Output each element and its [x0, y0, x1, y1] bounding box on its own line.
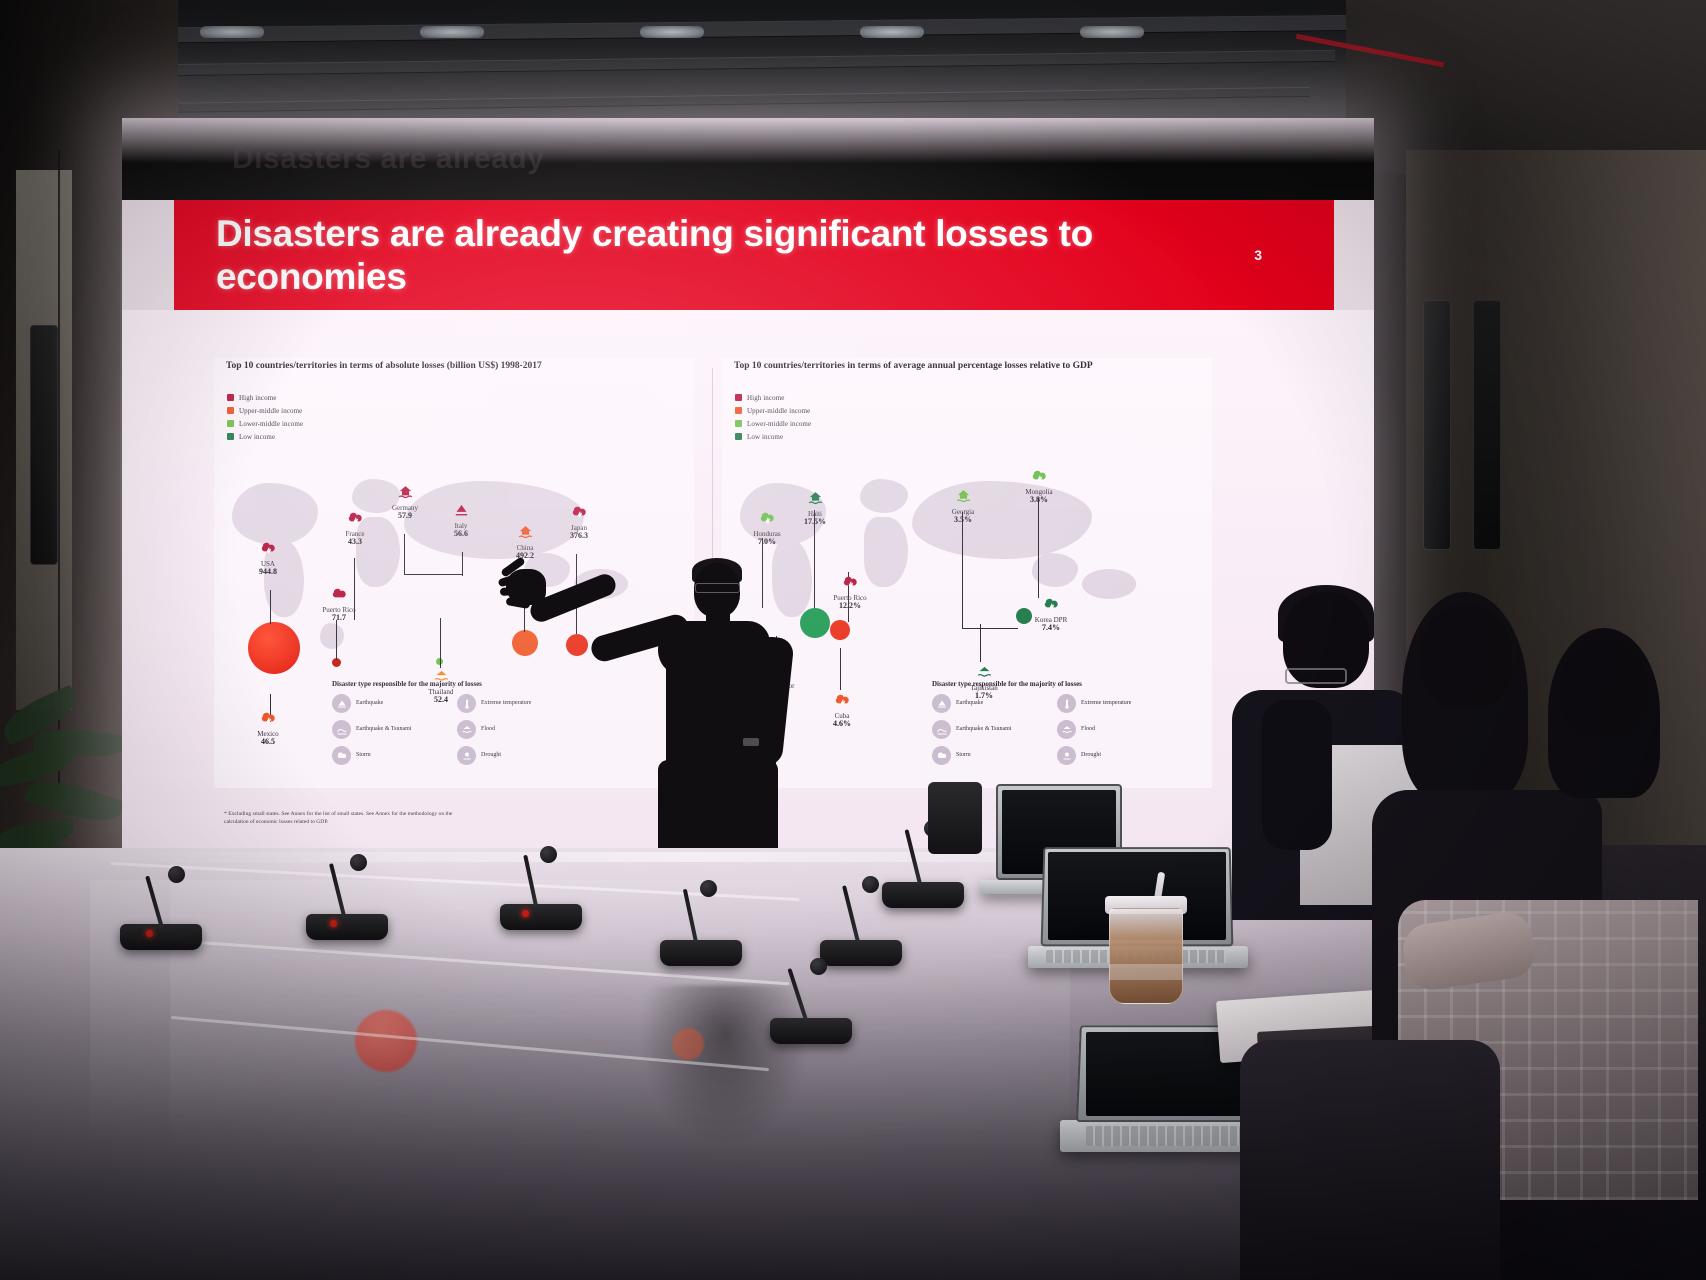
map-marker-germany[interactable]: Germany 57.9 — [376, 480, 434, 521]
legend-label: High income — [747, 394, 784, 402]
flood-icon — [513, 520, 537, 544]
thermometer-icon — [457, 694, 476, 713]
flood-icon — [393, 480, 417, 504]
disaster-type-label: Earthquake — [356, 700, 383, 707]
storm-icon — [343, 506, 367, 530]
country-value: 7.4% — [1022, 624, 1080, 633]
earthquake-icon — [332, 694, 351, 713]
country-value: 46.5 — [236, 738, 300, 747]
country-value: 3.8% — [1010, 496, 1068, 505]
storm-icon — [755, 506, 779, 530]
slide-number: 3 — [1254, 247, 1262, 263]
country-value: 71.7 — [310, 614, 368, 623]
ceiling-light — [200, 26, 264, 38]
left-panel-title: Top 10 countries/territories in terms of… — [226, 360, 646, 373]
legend-swatch — [227, 433, 234, 440]
country-value: 43.3 — [326, 538, 384, 547]
slide-footnote: * Excluding small states. See Annex for … — [224, 810, 454, 827]
drought-icon — [457, 746, 476, 765]
iced-coffee-cup[interactable] — [1105, 878, 1187, 1008]
legend-item: Upper-middle income — [735, 405, 811, 416]
legend-swatch — [735, 433, 742, 440]
tsunami-icon — [332, 720, 351, 739]
ceiling-panel — [0, 87, 1310, 115]
legend-label: Upper-middle income — [239, 407, 302, 415]
attendee-body — [1240, 1040, 1500, 1280]
slide-title-banner: Disasters are already creating significa… — [174, 200, 1334, 310]
loss-bubble-usa — [248, 622, 300, 674]
flood-icon — [457, 720, 476, 739]
legend-swatch — [227, 420, 234, 427]
storm-icon — [256, 706, 280, 730]
legend-swatch — [735, 420, 742, 427]
ceiling-light — [420, 26, 484, 38]
map-marker-japan[interactable]: Japan 376.3 — [550, 500, 608, 541]
glasses — [695, 583, 740, 593]
disaster-type-item: Earthquake — [932, 694, 1057, 713]
ceiling-light — [640, 26, 704, 38]
disaster-type-item: Storm — [932, 746, 1057, 765]
legend-label: Low income — [239, 433, 275, 441]
legend-swatch — [227, 394, 234, 401]
storm-icon — [1039, 592, 1063, 616]
legend-item: Lower-middle income — [227, 418, 303, 429]
country-value: 57.9 — [376, 512, 434, 521]
disaster-legend-title: Disaster type responsible for the majori… — [932, 680, 1182, 688]
disaster-type-item: Earthquake & Tsunami — [332, 720, 457, 739]
page-title: Disasters are already creating significa… — [216, 212, 1176, 299]
disaster-type-label: Drought — [1081, 752, 1101, 759]
right-income-legend: High income Upper-middle income Lower-mi… — [735, 392, 811, 444]
map-marker-mongolia[interactable]: Mongolia 3.8% — [1010, 464, 1068, 505]
attendee-glasses — [1285, 668, 1347, 684]
flood-icon — [803, 486, 827, 510]
map-marker-mexico[interactable]: Mexico 46.5 — [236, 706, 300, 747]
map-marker-georgia[interactable]: Georgia 3.5% — [934, 484, 992, 525]
storm-icon — [1027, 464, 1051, 488]
legend-label: Low income — [747, 433, 783, 441]
legend-swatch — [735, 407, 742, 414]
legend-swatch — [227, 407, 234, 414]
earthquake-icon — [932, 694, 951, 713]
disaster-type-label: Storm — [956, 752, 971, 759]
right-panel-title: Top 10 countries/territories in terms of… — [734, 360, 1154, 373]
disaster-type-label: Storm — [356, 752, 371, 759]
legend-item: Upper-middle income — [227, 405, 303, 416]
wall-speaker — [1473, 300, 1501, 550]
map-marker-haiti[interactable]: Haiti 17.5% — [786, 486, 844, 527]
country-value: 3.5% — [934, 516, 992, 525]
storm-icon — [332, 746, 351, 765]
disaster-type-item: Earthquake — [332, 694, 457, 713]
storm-icon — [932, 746, 951, 765]
disaster-type-label: Flood — [481, 726, 495, 733]
country-value: 56.6 — [432, 530, 490, 539]
country-value: 944.8 — [236, 568, 300, 577]
disaster-type-label: Earthquake — [956, 700, 983, 707]
attendee-head — [1560, 640, 1646, 738]
conference-room-photo: Disasters are already Disasters are alre… — [0, 0, 1706, 1280]
legend-item: Lower-middle income — [735, 418, 811, 429]
disaster-type-label: Extreme temperature — [1081, 700, 1131, 707]
wall-speaker — [30, 325, 58, 565]
map-marker-usa[interactable]: USA 944.8 — [236, 536, 300, 577]
map-marker-korea-dpr[interactable]: Korea DPR 7.4% — [1022, 592, 1080, 633]
storm-icon — [327, 582, 351, 606]
legend-item: Low income — [735, 431, 811, 442]
previous-slide-ghost-text: Disasters are already — [232, 142, 1212, 176]
ceiling-panel — [0, 50, 1335, 78]
screen-top-edge: Disasters are already — [122, 118, 1374, 200]
flood-icon — [951, 484, 975, 508]
legend-item: High income — [227, 392, 303, 403]
table-speaker — [928, 782, 982, 854]
wall-speaker — [1423, 300, 1451, 550]
cup-band — [1109, 964, 1183, 980]
disaster-type-item: Extreme temperature — [1057, 694, 1182, 713]
legend-label: High income — [239, 394, 276, 402]
thermometer-icon — [1057, 694, 1076, 713]
disaster-type-item: Earthquake & Tsunami — [932, 720, 1057, 739]
legend-item: Low income — [227, 431, 303, 442]
flood-icon — [1057, 720, 1076, 739]
earthquake-icon — [449, 498, 473, 522]
storm-icon — [567, 500, 591, 524]
country-value: 376.3 — [550, 532, 608, 541]
left-income-legend: High income Upper-middle income Lower-mi… — [227, 392, 303, 444]
storm-icon — [256, 536, 280, 560]
right-disaster-type-legend: Disaster type responsible for the majori… — [932, 680, 1182, 772]
legend-swatch — [735, 394, 742, 401]
disaster-type-item: Storm — [332, 746, 457, 765]
tsunami-icon — [932, 720, 951, 739]
cup-body — [1109, 908, 1183, 1004]
map-marker-puerto-rico[interactable]: Puerto Rico 71.7 — [310, 582, 368, 623]
wristwatch — [743, 738, 759, 746]
country-value: 17.5% — [786, 518, 844, 527]
legend-label: Lower-middle income — [239, 420, 303, 428]
drought-icon — [1057, 746, 1076, 765]
attendee-arm — [1262, 700, 1332, 850]
disaster-type-item: Drought — [1057, 746, 1182, 765]
map-marker-italy[interactable]: Italy 56.6 — [432, 498, 490, 539]
attendee-head — [1420, 605, 1512, 709]
ceiling-light — [1080, 26, 1144, 38]
presenter-silhouette — [498, 545, 848, 875]
ceiling-light — [860, 26, 924, 38]
disaster-type-item: Flood — [1057, 720, 1182, 739]
legend-label: Lower-middle income — [747, 420, 811, 428]
disaster-type-label: Flood — [1081, 726, 1095, 733]
disaster-type-label: Earthquake & Tsunami — [956, 726, 1011, 733]
disaster-type-label: Earthquake & Tsunami — [356, 726, 411, 733]
legend-label: Upper-middle income — [747, 407, 810, 415]
legend-item: High income — [735, 392, 811, 403]
